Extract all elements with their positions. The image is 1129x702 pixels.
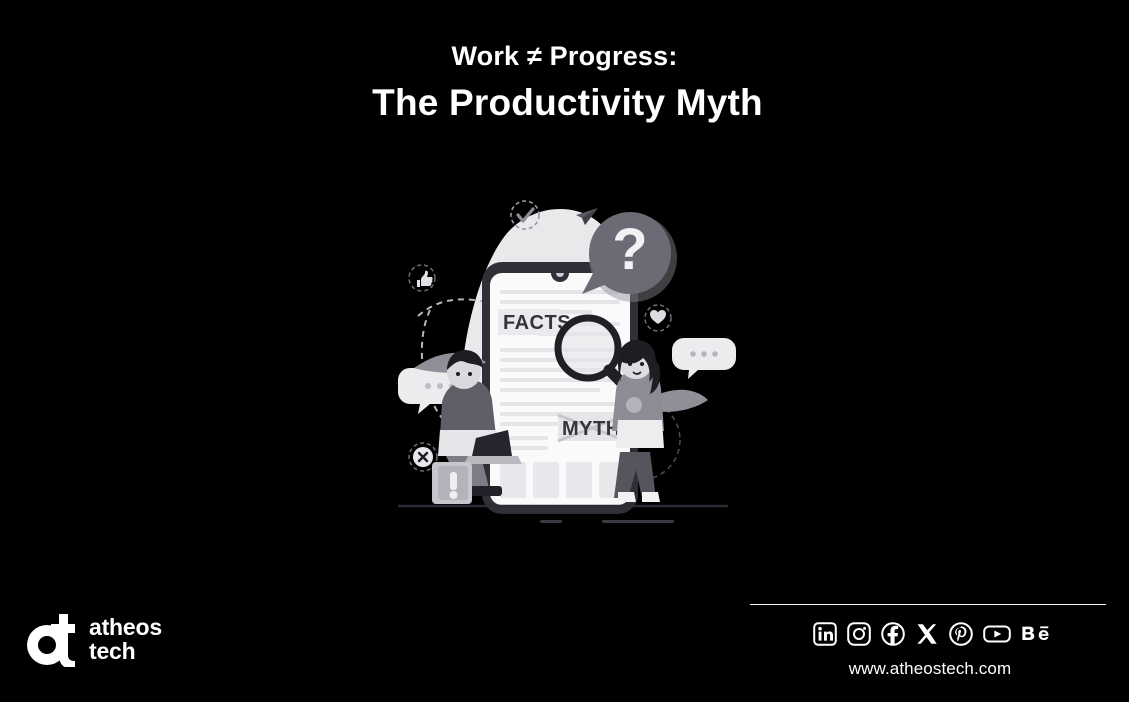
- instagram-icon: [847, 622, 871, 646]
- page-title: Work ≠ Progress: The Productivity Myth: [0, 42, 1129, 126]
- x-twitter-icon: [915, 622, 939, 646]
- website-url[interactable]: www.atheostech.com: [750, 659, 1106, 679]
- social-link-linkedin[interactable]: [813, 622, 837, 646]
- social-link-instagram[interactable]: [847, 622, 871, 646]
- social-link-pinterest[interactable]: [949, 622, 973, 646]
- pinterest-icon: [949, 622, 973, 646]
- headline-line-1: Work ≠ Progress:: [0, 42, 1129, 72]
- social-link-behance[interactable]: [1021, 622, 1051, 646]
- ground-dash: [602, 520, 674, 523]
- youtube-icon: [983, 622, 1011, 646]
- slide-canvas: Work ≠ Progress: The Productivity Myth: [0, 0, 1129, 702]
- facebook-icon: [881, 622, 905, 646]
- warning-box: [432, 462, 472, 504]
- atheos-at-monogram-icon: [26, 612, 80, 667]
- brand-logo-text: atheos tech: [89, 616, 162, 663]
- social-link-x[interactable]: [915, 622, 939, 646]
- facts-vs-myths-illustration: FACTS MYTHS ?: [390, 190, 740, 535]
- question-mark: ?: [612, 217, 647, 282]
- footer: www.atheostech.com: [750, 604, 1106, 679]
- brand-logo: atheos tech: [26, 612, 162, 667]
- brand-name-line-1: atheos: [89, 614, 162, 640]
- social-links: [750, 622, 1106, 646]
- linkedin-icon: [813, 622, 837, 646]
- headline-line-2: The Productivity Myth: [0, 80, 1129, 126]
- thumbs-up-badge: [409, 265, 435, 291]
- ground-dash: [540, 520, 562, 523]
- behance-icon: [1021, 622, 1051, 646]
- footer-divider: [750, 604, 1106, 605]
- chat-bubble-dots-right: [672, 338, 736, 379]
- heart-badge: [645, 305, 671, 331]
- brand-name-line-2: tech: [89, 640, 162, 663]
- social-link-youtube[interactable]: [983, 622, 1011, 646]
- social-link-facebook[interactable]: [881, 622, 905, 646]
